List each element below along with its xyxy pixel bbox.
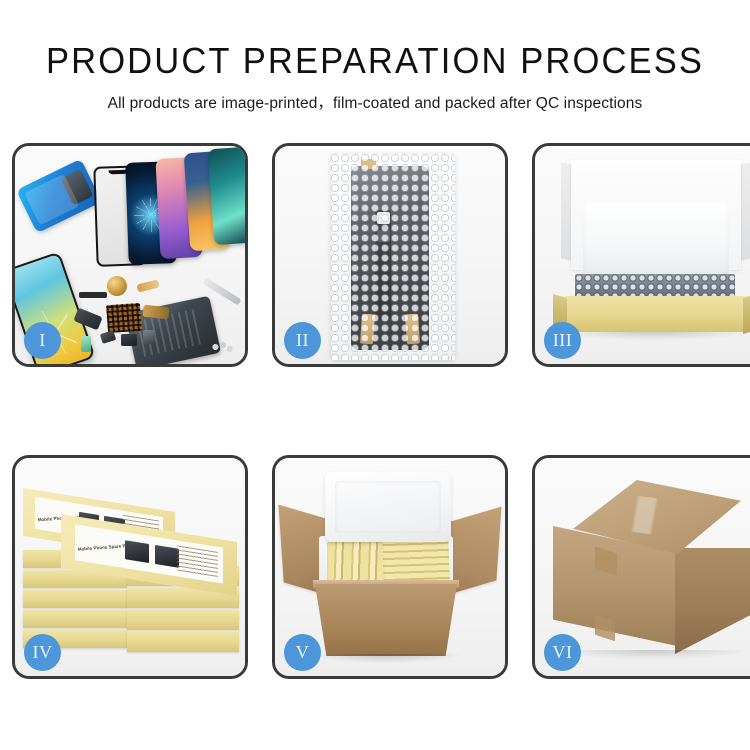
packed-yellow-boxes-row-2 <box>382 537 449 583</box>
stacked-box <box>127 632 239 652</box>
box-shadow <box>561 332 749 340</box>
process-card-3[interactable]: III <box>532 143 750 367</box>
speaker-coil-icon <box>107 276 127 296</box>
small-part-icon-1 <box>81 336 91 352</box>
camera-module-icon <box>61 169 94 206</box>
label-screen-thumb-1 <box>125 541 149 564</box>
step-badge-6: VI <box>544 634 581 671</box>
step-badge-1: I <box>24 322 61 359</box>
connector-chip-icon-1 <box>377 212 390 224</box>
small-part-icon-4 <box>143 330 155 344</box>
step-badge-3: III <box>544 322 581 359</box>
flex-cable-icon-3 <box>142 305 169 320</box>
process-card-4[interactable]: Mobile Phone Spare Parts Mobile Phone Sp… <box>12 455 248 679</box>
process-grid: I II <box>12 143 740 679</box>
stacked-box <box>127 610 239 630</box>
small-part-icon-3 <box>121 334 137 346</box>
sealed-carton <box>553 480 750 656</box>
bubble-wrap-bag <box>331 154 455 360</box>
process-card-6[interactable]: VI <box>532 455 750 679</box>
carton-shadow <box>557 650 749 659</box>
foam-box-lid <box>325 472 451 542</box>
screw-tray-icon <box>106 303 142 333</box>
page-title: PRODUCT PREPARATION PROCESS <box>15 0 735 80</box>
page-subtitle: All products are image-printed，film-coat… <box>0 80 750 113</box>
stacked-box <box>23 610 127 628</box>
battery-strip-icon <box>79 292 107 298</box>
foam-sheet <box>583 200 729 276</box>
product-preparation-page: PRODUCT PREPARATION PROCESS All products… <box>0 0 750 750</box>
tape-strip-left-icon <box>360 314 375 345</box>
small-part-icon-2 <box>100 330 116 344</box>
process-card-5[interactable]: V <box>272 455 508 679</box>
phone-back-cover-icon <box>16 159 102 234</box>
carton-body <box>315 584 457 656</box>
carton-shadow <box>311 654 461 663</box>
stacked-box <box>23 590 127 608</box>
label-screen-thumb-2 <box>155 545 179 568</box>
phone-screen-teal-icon <box>208 147 248 245</box>
page-header: PRODUCT PREPARATION PROCESS All products… <box>0 0 750 113</box>
flex-cable-icon-1 <box>136 279 159 292</box>
flex-cable-icon <box>375 210 391 320</box>
connector-chip-icon-2 <box>377 230 390 242</box>
wrapped-screen <box>351 166 429 350</box>
carton-face-side <box>675 548 750 654</box>
process-card-2[interactable]: II <box>272 143 508 367</box>
screws-icon <box>211 342 233 352</box>
step-badge-2: II <box>284 322 321 359</box>
process-card-1[interactable]: I <box>12 143 248 367</box>
label-spec-lines <box>177 545 218 578</box>
step-badge-5: V <box>284 634 321 671</box>
step-badge-4: IV <box>24 634 61 671</box>
tape-strip-right-icon <box>405 314 420 345</box>
yellow-box-body <box>565 296 745 332</box>
tape-tab-icon <box>361 159 376 169</box>
